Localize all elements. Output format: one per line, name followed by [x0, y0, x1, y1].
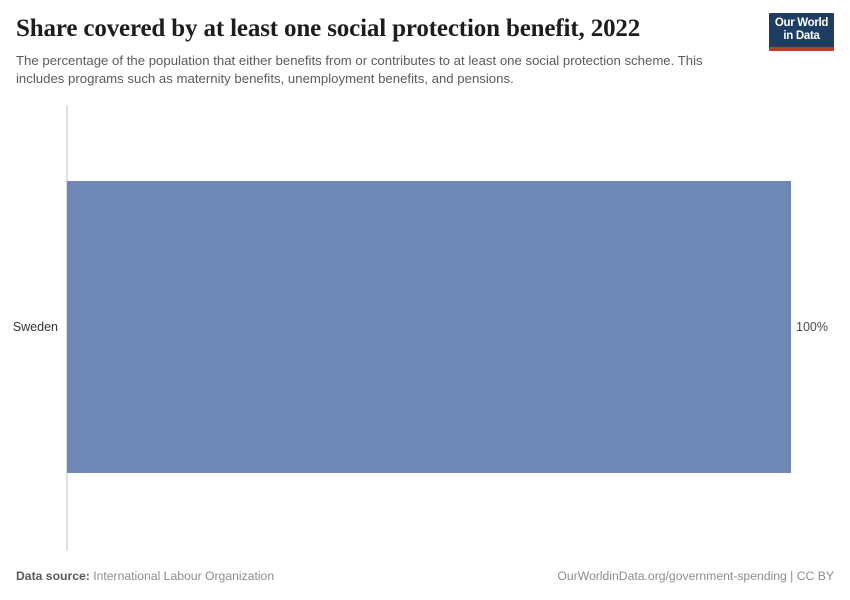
bar-value-label: 100% — [796, 320, 828, 335]
data-source-value: International Labour Organization — [90, 569, 274, 583]
bar-rect[interactable] — [67, 181, 791, 473]
chart-footer: Data source: International Labour Organi… — [0, 566, 850, 592]
chart-plot-area: Sweden 100% — [0, 0, 850, 600]
data-source: Data source: International Labour Organi… — [16, 569, 274, 583]
bar-category-label: Sweden — [0, 320, 58, 335]
data-source-label: Data source: — [16, 569, 90, 583]
chart-page: Share covered by at least one social pro… — [0, 0, 850, 600]
license-link[interactable]: OurWorldinData.org/government-spending |… — [557, 569, 834, 583]
bar-series-sweden[interactable]: Sweden 100% — [0, 181, 850, 473]
